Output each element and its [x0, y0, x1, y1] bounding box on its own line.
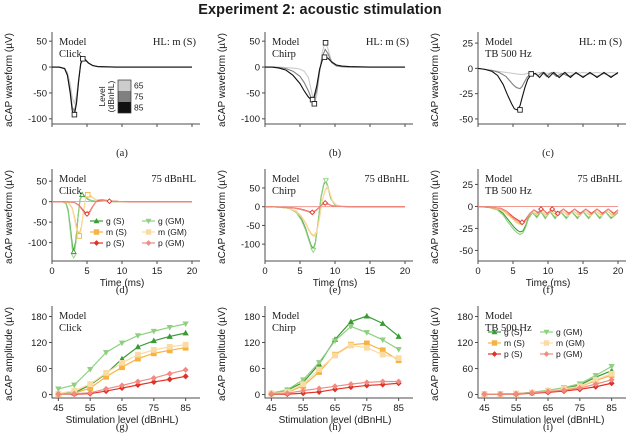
data-point-marker: [167, 377, 172, 382]
colorbar-swatch: [118, 91, 131, 102]
annotation-model: Model: [272, 37, 299, 48]
colorbar-tick-label: 75: [134, 92, 144, 102]
legend-label: p (GM): [158, 238, 185, 248]
axis-label-y: aCAP waveform (µV): [4, 33, 15, 127]
svg-text:5: 5: [510, 266, 515, 277]
svg-text:120: 120: [457, 338, 473, 349]
series-line: [478, 68, 618, 74]
svg-text:-25: -25: [459, 89, 473, 100]
peak-marker: [322, 55, 327, 60]
svg-text:45: 45: [53, 403, 64, 414]
annotation-model: Model: [59, 311, 86, 322]
axis-label-y: aCAP amplitude (µV): [217, 307, 228, 401]
svg-text:0: 0: [42, 62, 47, 73]
panel-d: 500-50-10005101520aCAP waveform (µV)Time…: [0, 159, 213, 296]
panel-letter: (c): [542, 148, 554, 159]
svg-text:10: 10: [117, 266, 128, 277]
svg-text:120: 120: [244, 338, 260, 349]
annotation-condition: 75 dBnHL: [151, 174, 196, 185]
svg-text:5: 5: [297, 266, 302, 277]
peak-marker: [539, 207, 544, 212]
annotation-stimulus: Chirp: [272, 323, 296, 334]
annotation-model: Model: [59, 37, 86, 48]
svg-text:50: 50: [36, 177, 47, 188]
legend-marker: [94, 241, 99, 246]
annotation-condition: HL: m (S): [579, 37, 623, 48]
colorbar-tick-label: 85: [134, 103, 144, 113]
annotation-condition: 75 dBnHL: [364, 174, 409, 185]
svg-text:-50: -50: [33, 218, 47, 229]
legend-label: p (S): [504, 349, 523, 359]
axis-label-y: aCAP amplitude (µV): [4, 307, 15, 401]
panel-i: 0601201804555657585aCAP amplitude (µV)St…: [426, 296, 639, 433]
data-point-marker: [609, 371, 614, 376]
svg-text:0: 0: [475, 266, 480, 277]
svg-text:15: 15: [365, 266, 376, 277]
axis-label-y: aCAP waveform (µV): [4, 170, 15, 264]
annotation-stimulus: Click: [59, 49, 82, 60]
data-point-marker: [396, 356, 401, 361]
data-point-marker: [316, 386, 321, 391]
svg-text:55: 55: [511, 403, 522, 414]
data-point-marker: [88, 382, 93, 387]
panel-a: 500-50-100aCAP waveform (µV)ModelClickHL…: [0, 22, 213, 159]
colorbar-unit: (dBnHL): [106, 81, 116, 113]
svg-text:50: 50: [249, 183, 260, 194]
data-point-marker: [167, 371, 172, 376]
series-line: [265, 57, 405, 99]
annotation-model: Model: [272, 311, 299, 322]
panel-letter: (d): [116, 285, 129, 296]
annotation-model: Model: [485, 311, 512, 322]
peak-marker: [85, 192, 90, 197]
legend-label: m (S): [106, 227, 127, 237]
data-point-marker: [151, 347, 156, 352]
legend-marker: [544, 352, 549, 357]
peak-marker: [311, 248, 316, 252]
legend-label: g (S): [106, 216, 125, 226]
panel-letter: (i): [543, 422, 553, 433]
annotation-stimulus: TB 500 Hz: [485, 186, 532, 197]
svg-text:0: 0: [42, 390, 47, 401]
annotation-stimulus: Chirp: [272, 49, 296, 60]
svg-text:60: 60: [249, 364, 260, 375]
data-point-marker: [609, 364, 614, 369]
data-point-marker: [119, 360, 124, 365]
svg-text:75: 75: [362, 403, 373, 414]
peak-marker: [310, 210, 315, 215]
legend-label: m (GM): [158, 227, 187, 237]
peak-marker: [529, 72, 534, 77]
annotation-condition: 75 dBnHL: [577, 174, 622, 185]
svg-text:180: 180: [244, 312, 260, 323]
data-point-marker: [119, 341, 124, 346]
svg-text:5: 5: [84, 266, 89, 277]
annotation-model: Model: [59, 174, 86, 185]
colorbar-tick-label: 65: [134, 81, 144, 91]
svg-text:0: 0: [255, 390, 260, 401]
annotation-condition: HL: m (S): [153, 37, 197, 48]
data-point-marker: [364, 345, 369, 350]
svg-text:55: 55: [85, 403, 96, 414]
peak-marker: [518, 108, 523, 113]
svg-text:25: 25: [462, 180, 473, 191]
data-point-marker: [332, 384, 337, 389]
svg-text:60: 60: [462, 364, 473, 375]
panel-letter: (e): [329, 285, 341, 296]
svg-text:55: 55: [298, 403, 309, 414]
svg-text:10: 10: [543, 266, 554, 277]
axis-label-y: aCAP amplitude (µV): [430, 307, 441, 401]
figure-title: Experiment 2: acoustic stimulation: [0, 2, 640, 18]
axis-label-y: aCAP waveform (µV): [430, 33, 441, 127]
annotation-model: Model: [272, 174, 299, 185]
panel-b: 500-50-100aCAP waveform (µV)ModelChirpHL…: [213, 22, 426, 159]
peak-marker: [71, 254, 76, 258]
svg-text:20: 20: [400, 266, 411, 277]
panel-letter: (f): [543, 285, 554, 296]
annotation-stimulus: Click: [59, 323, 82, 334]
svg-text:120: 120: [31, 338, 47, 349]
svg-text:-50: -50: [246, 88, 260, 99]
svg-text:180: 180: [457, 312, 473, 323]
data-point-marker: [348, 382, 353, 387]
svg-text:0: 0: [49, 266, 54, 277]
data-point-marker: [380, 379, 385, 384]
svg-text:10: 10: [330, 266, 341, 277]
peak-marker: [77, 234, 82, 239]
annotation-stimulus: Click: [59, 186, 82, 197]
annotation-stimulus: TB 500 Hz: [485, 49, 532, 60]
legend-marker: [492, 341, 497, 346]
colorbar-swatch: [118, 102, 131, 113]
svg-text:45: 45: [479, 403, 490, 414]
legend-marker: [544, 341, 549, 346]
svg-text:-100: -100: [28, 238, 47, 249]
svg-text:75: 75: [575, 403, 586, 414]
series-line: [478, 206, 618, 234]
svg-text:85: 85: [393, 403, 404, 414]
annotation-model: Model: [485, 37, 512, 48]
svg-text:65: 65: [543, 403, 554, 414]
svg-text:180: 180: [31, 312, 47, 323]
data-point-marker: [364, 313, 369, 318]
legend-label: p (S): [106, 238, 125, 248]
svg-text:-25: -25: [459, 224, 473, 235]
svg-text:20: 20: [613, 266, 624, 277]
svg-text:45: 45: [266, 403, 277, 414]
svg-text:0: 0: [468, 64, 473, 75]
svg-text:65: 65: [330, 403, 341, 414]
data-point-marker: [183, 330, 188, 335]
legend-label: p (GM): [556, 349, 583, 359]
svg-text:65: 65: [117, 403, 128, 414]
panel-h: 0601201804555657585aCAP amplitude (µV)St…: [213, 296, 426, 433]
data-point-marker: [167, 344, 172, 349]
data-point-marker: [103, 370, 108, 375]
data-point-marker: [380, 352, 385, 357]
data-point-marker: [348, 343, 353, 348]
svg-text:15: 15: [578, 266, 589, 277]
svg-text:0: 0: [262, 266, 267, 277]
svg-text:-50: -50: [33, 88, 47, 99]
legend-marker: [146, 230, 151, 235]
panel-letter: (b): [329, 148, 342, 159]
axis-label-y: aCAP waveform (µV): [217, 33, 228, 127]
peak-marker: [107, 199, 112, 204]
legend-marker: [492, 352, 497, 357]
data-point-marker: [316, 367, 321, 372]
svg-text:0: 0: [468, 202, 473, 213]
svg-text:0: 0: [468, 390, 473, 401]
legend-marker: [94, 230, 99, 235]
svg-text:-100: -100: [241, 114, 260, 125]
data-point-marker: [135, 352, 140, 357]
svg-text:-50: -50: [246, 221, 260, 232]
svg-text:-100: -100: [28, 114, 47, 125]
annotation-model: Model: [485, 174, 512, 185]
annotation-stimulus: Chirp: [272, 186, 296, 197]
legend-label: g (GM): [556, 327, 583, 337]
svg-text:0: 0: [255, 202, 260, 213]
axis-label-y: aCAP waveform (µV): [430, 170, 441, 264]
figure-panel-grid: 500-50-100aCAP waveform (µV)ModelClickHL…: [0, 22, 640, 435]
svg-text:60: 60: [36, 364, 47, 375]
svg-text:-50: -50: [459, 114, 473, 125]
svg-text:0: 0: [42, 197, 47, 208]
data-point-marker: [332, 353, 337, 358]
svg-text:15: 15: [152, 266, 163, 277]
data-point-marker: [183, 367, 188, 372]
svg-text:-100: -100: [241, 240, 260, 251]
panel-c: 250-25-50aCAP waveform (µV)ModelTB 500 H…: [426, 22, 639, 159]
data-point-marker: [135, 379, 140, 384]
svg-text:25: 25: [462, 38, 473, 49]
svg-text:75: 75: [149, 403, 160, 414]
svg-text:85: 85: [180, 403, 191, 414]
legend-marker: [146, 241, 151, 246]
colorbar-swatch: [118, 80, 131, 91]
annotation-condition: HL: m (S): [366, 37, 410, 48]
legend-label: g (S): [504, 327, 523, 337]
svg-text:50: 50: [249, 37, 260, 48]
panel-letter: (a): [116, 148, 128, 159]
legend-label: m (GM): [556, 338, 585, 348]
legend-label: g (GM): [158, 216, 185, 226]
peak-marker: [312, 102, 317, 107]
svg-text:20: 20: [187, 266, 198, 277]
data-point-marker: [151, 375, 156, 380]
data-point-marker: [609, 377, 614, 382]
peak-marker: [72, 112, 77, 117]
svg-text:0: 0: [255, 62, 260, 73]
svg-text:50: 50: [36, 37, 47, 48]
data-point-marker: [301, 382, 306, 387]
svg-text:85: 85: [606, 403, 617, 414]
data-point-marker: [364, 380, 369, 385]
data-point-marker: [396, 347, 401, 352]
panel-letter: (h): [329, 422, 342, 433]
panel-letter: (g): [116, 422, 129, 433]
series-line: [478, 206, 618, 232]
panel-e: 500-50-10005101520aCAP waveform (µV)Time…: [213, 159, 426, 296]
svg-text:-50: -50: [459, 246, 473, 257]
legend-label: m (S): [504, 338, 525, 348]
data-point-marker: [183, 342, 188, 347]
data-point-marker: [183, 374, 188, 379]
panel-f: 250-25-5005101520aCAP waveform (µV)Time …: [426, 159, 639, 296]
axis-label-y: aCAP waveform (µV): [217, 170, 228, 264]
panel-g: 0601201804555657585aCAP amplitude (µV)St…: [0, 296, 213, 433]
data-point-marker: [380, 338, 385, 343]
peak-marker: [323, 40, 328, 45]
